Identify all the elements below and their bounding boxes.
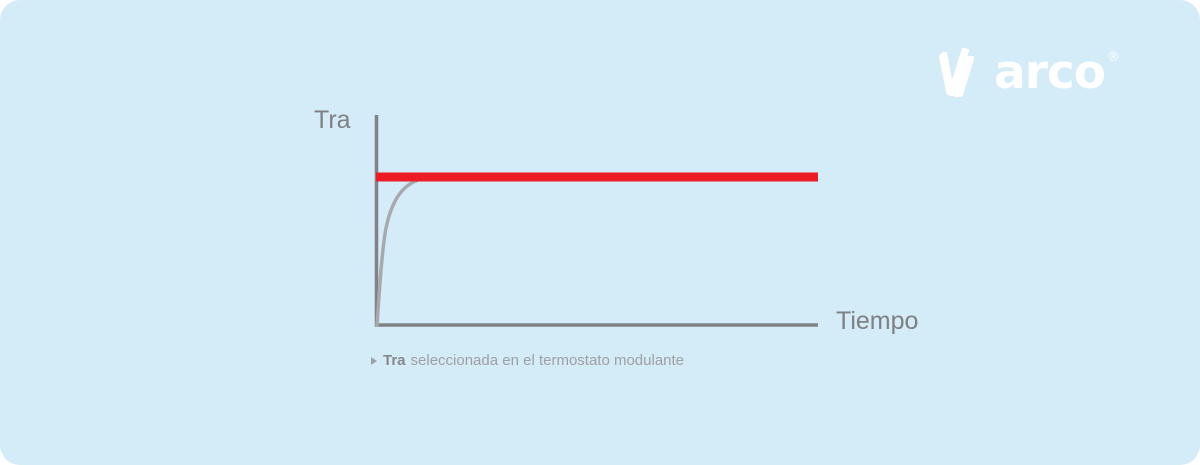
chart-card: arco® Tra Tiempo Tra seleccionada en el … xyxy=(0,0,1200,465)
y-axis-label: Tra xyxy=(314,108,351,133)
caption-strong-text: Tra xyxy=(383,353,406,368)
caption-triangle-icon xyxy=(371,357,377,365)
chart-plot-area xyxy=(0,0,1200,465)
caption-rest-text: seleccionada en el termostato modulante xyxy=(411,353,685,368)
chart-caption: Tra seleccionada en el termostato modula… xyxy=(371,353,684,368)
x-axis-label: Tiempo xyxy=(836,309,918,334)
response-curve xyxy=(377,175,452,326)
